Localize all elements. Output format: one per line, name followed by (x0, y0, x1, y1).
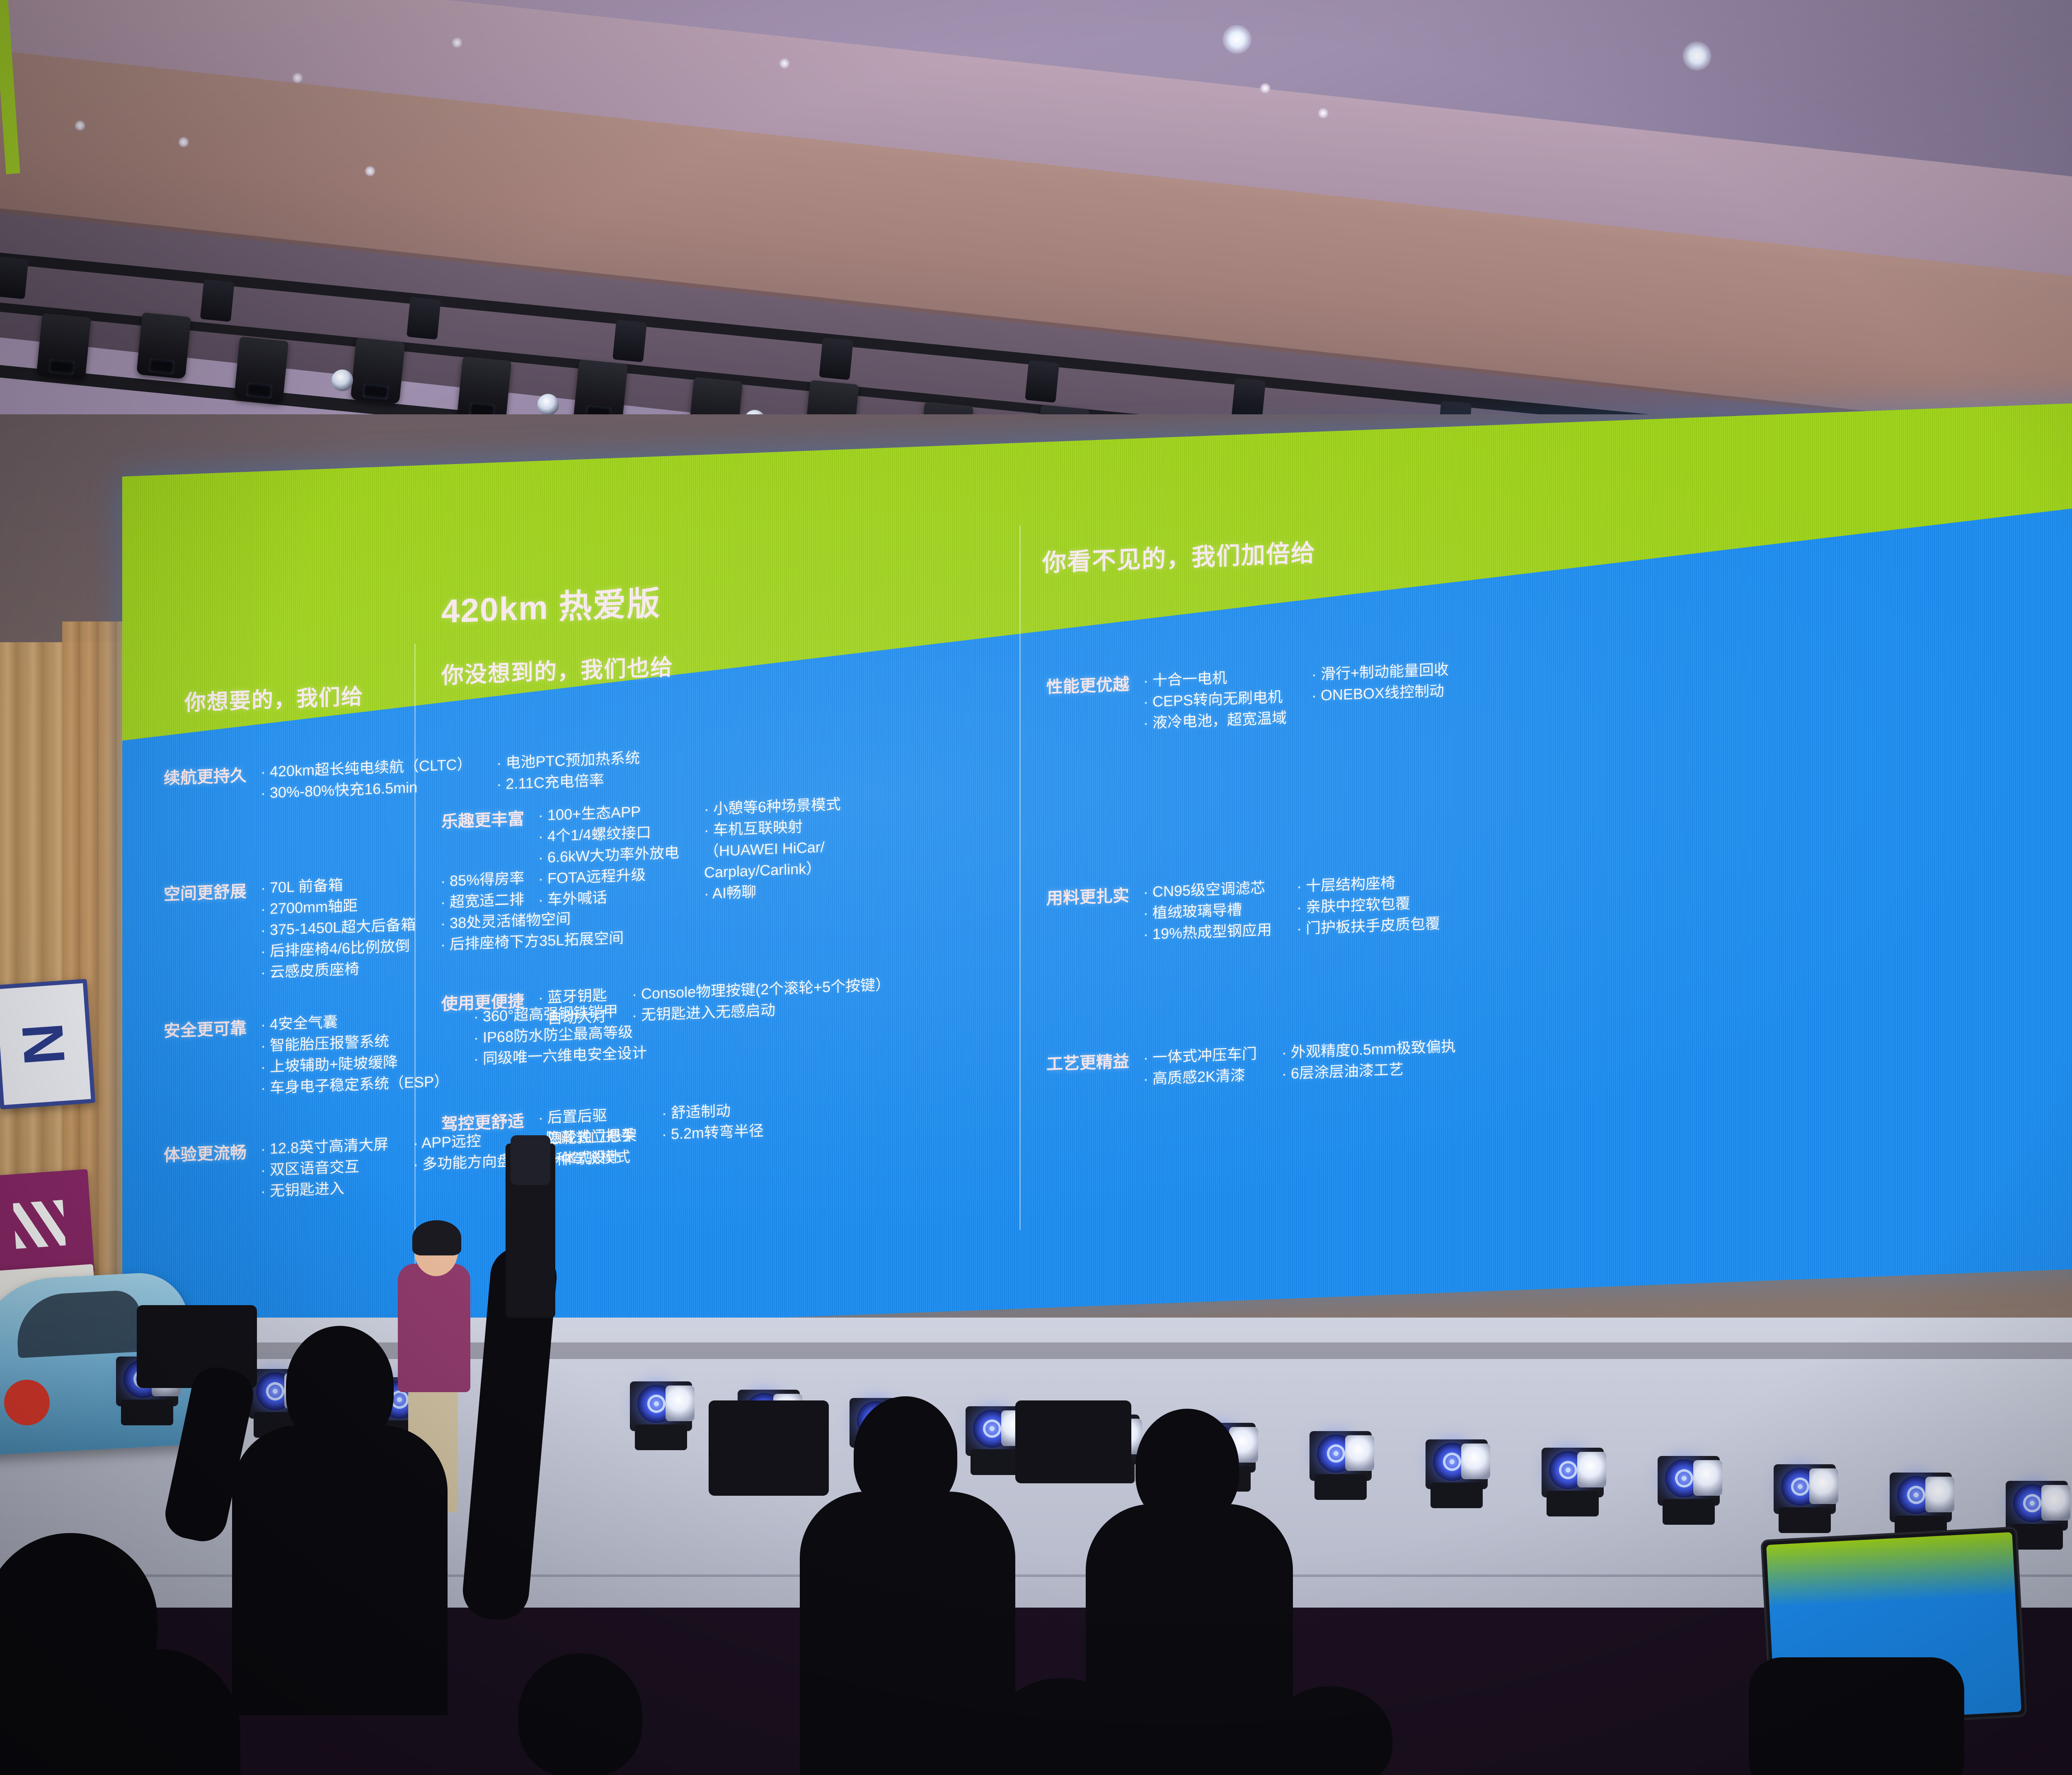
downlight-icon (178, 137, 189, 148)
downlight-icon (365, 166, 375, 177)
list-item: AI畅聊 (704, 878, 841, 904)
moving-head-light (1774, 1450, 1836, 1533)
moving-head-light (630, 1367, 692, 1450)
section-list-b: 外观精度0.5mm极致偏执 6层涂层油漆工艺 (1282, 1035, 1456, 1084)
event-photo-scene: N 420km 热爱版 你没想到的，我们也给 你看不见的，我们加倍给 你想要的，… (0, 0, 2072, 1775)
gimbal-head (511, 1135, 550, 1185)
video-camera (1015, 1400, 1131, 1483)
section-craftsmanship: 工艺更精益 一体式冲压车门 高质感2K清漆 外观精度0.5mm极致偏执 6层涂层… (1046, 1035, 1456, 1093)
section-fun: 乐趣更丰富 100+生态APP 4个1/4螺纹接口 6.6kW大功率外放电 FO… (441, 793, 841, 914)
section-list-b: 十层结构座椅 亲肤中控软包覆 门护板扶手皮质包覆 (1297, 871, 1440, 939)
section-convenience: 使用更便捷 蓝牙钥匙 自动大灯 Console物理按键(2个滚轮+5个按键） 无… (441, 974, 890, 1033)
section-list-a: 100+生态APP 4个1/4螺纹接口 6.6kW大功率外放电 FOTA远程升级… (538, 800, 679, 911)
videographer-body (232, 1425, 448, 1715)
list-item: 舒适制动 (662, 1099, 764, 1124)
section-list-b: 电池PTC预加热系统 2.11C充电倍率 (496, 747, 640, 795)
section-list-a: CN95级空调滤芯 植绒玻璃导槽 19%热成型钢应用 (1143, 877, 1272, 945)
vehicle-badge (4, 1380, 50, 1425)
audience-silhouette (518, 1653, 642, 1775)
led-presentation-screen: 420km 热爱版 你没想到的，我们也给 你看不见的，我们加倍给 你想要的，我们… (122, 397, 2072, 1342)
section-heading: 使用更便捷 (441, 988, 524, 1015)
section-heading: 空间更舒展 (164, 878, 247, 905)
column-divider-2 (1019, 526, 1021, 1230)
hand-holding-phone (986, 1711, 1202, 1775)
section-list-a: 70L 前备箱 2700mm轴距 375-1450L超大后备箱 后排座椅4/6比… (261, 871, 416, 983)
section-materials: 用料更扎实 CN95级空调滤芯 植绒玻璃导槽 19%热成型钢应用 十层结构座椅 … (1046, 871, 1440, 949)
section-driving: 驾控更舒适 后置后驱 四轮独立悬架 3种驾驶模式 舒适制动 5.2m转弯半径 (441, 1099, 764, 1175)
section-list-b: Console物理按键(2个滚轮+5个按键） 无钥匙进入无感启动 (632, 974, 890, 1026)
downlight-icon (779, 58, 790, 69)
section-list-a: 一体式冲压车门 高质感2K清漆 (1143, 1043, 1257, 1090)
moving-head-light (1426, 1425, 1488, 1508)
downlight-icon (452, 37, 462, 48)
downlight-icon (75, 120, 85, 131)
presenter-torso (398, 1264, 470, 1392)
section-heading: 乐趣更丰富 (441, 805, 524, 833)
section-list-b: 舒适制动 5.2m转弯半径 (662, 1099, 764, 1166)
downlight-icon (292, 73, 303, 83)
section-list-a: 4安全气囊 智能胎压报警系统 上坡辅助+陡坡缓降 车身电子稳定系统（ESP） (261, 1007, 449, 1098)
section-heading: 性能更优越 (1046, 671, 1129, 698)
section-heading: 安全更可靠 (164, 1015, 247, 1042)
moving-head-light (1310, 1417, 1372, 1500)
list-item: 19%热成型钢应用 (1143, 919, 1272, 945)
moving-head-light (1890, 1458, 1952, 1541)
ceiling-spotlight-icon (1682, 41, 1711, 70)
downlight-icon (1260, 83, 1271, 94)
section-performance: 性能更优越 十合一电机 CEPS转向无刷电机 液冷电池，超宽温域 滑行+制动能量… (1046, 659, 1449, 738)
section-heading: 驾控更舒适 (441, 1108, 524, 1135)
directional-sign: N (0, 979, 95, 1109)
slide-subtitle-right: 你看不见的，我们加倍给 (1042, 533, 1316, 578)
section-heading: 用料更扎实 (1046, 882, 1129, 909)
list-item: 自动大灯 (538, 1006, 607, 1029)
ceiling-spotlight-icon (1222, 25, 1251, 54)
audience-silhouette (0, 1649, 240, 1775)
list-item: 蓝牙钥匙 (538, 984, 607, 1008)
section-heading: 体验更流畅 (164, 1139, 247, 1166)
section-heading: 工艺更精益 (1046, 1048, 1129, 1075)
moving-head-light (1542, 1434, 1604, 1516)
section-heading: 续航更持久 (164, 762, 247, 789)
brand-slash-icon (13, 1200, 65, 1249)
slide-subtitle-left: 你想要的，我们给 (184, 679, 363, 716)
slide-subtitle-middle: 你没想到的，我们也给 (441, 648, 673, 690)
list-item: 高质感2K清漆 (1143, 1064, 1257, 1089)
list-item: 无钥匙进入 (261, 1176, 388, 1202)
slide-content: 420km 热爱版 你没想到的，我们也给 你看不见的，我们加倍给 你想要的，我们… (122, 397, 2072, 1342)
section-endurance: 续航更持久 420km超长纯电续航（CLTC） 30%-80%快充16.5min… (164, 747, 640, 807)
videographer-body (800, 1492, 1015, 1775)
section-list-a: 蓝牙钥匙 自动大灯 (538, 984, 607, 1029)
section-list-b: 滑行+制动能量回收 ONEBOX线控制动 (1312, 659, 1449, 728)
list-item: 5.2m转弯半径 (662, 1120, 764, 1145)
presenter-hair (412, 1220, 461, 1255)
hand-holding-phone (1749, 1657, 1964, 1775)
sign-letter: N (9, 1021, 79, 1067)
moving-head-light (1658, 1442, 1720, 1525)
slide-title: 420km 热爱版 (441, 576, 661, 633)
section-list-b: 小憩等6种场景模式 车机互联映射 （HUAWEI HiCar/ Carplay/… (704, 793, 841, 904)
section-list-a: 十合一电机 CEPS转向无刷电机 液冷电池，超宽温域 (1143, 665, 1287, 734)
section-list-a: 420km超长纯电续航（CLTC） 30%-80%快充16.5min (261, 753, 472, 803)
brand-sign-purple (0, 1169, 94, 1280)
downlight-icon (1318, 108, 1329, 118)
video-camera (709, 1400, 829, 1496)
list-item: 后置后驱 (538, 1103, 637, 1128)
section-list-a: 12.8英寸高清大屏 双区语音交互 无钥匙进入 (261, 1134, 388, 1202)
